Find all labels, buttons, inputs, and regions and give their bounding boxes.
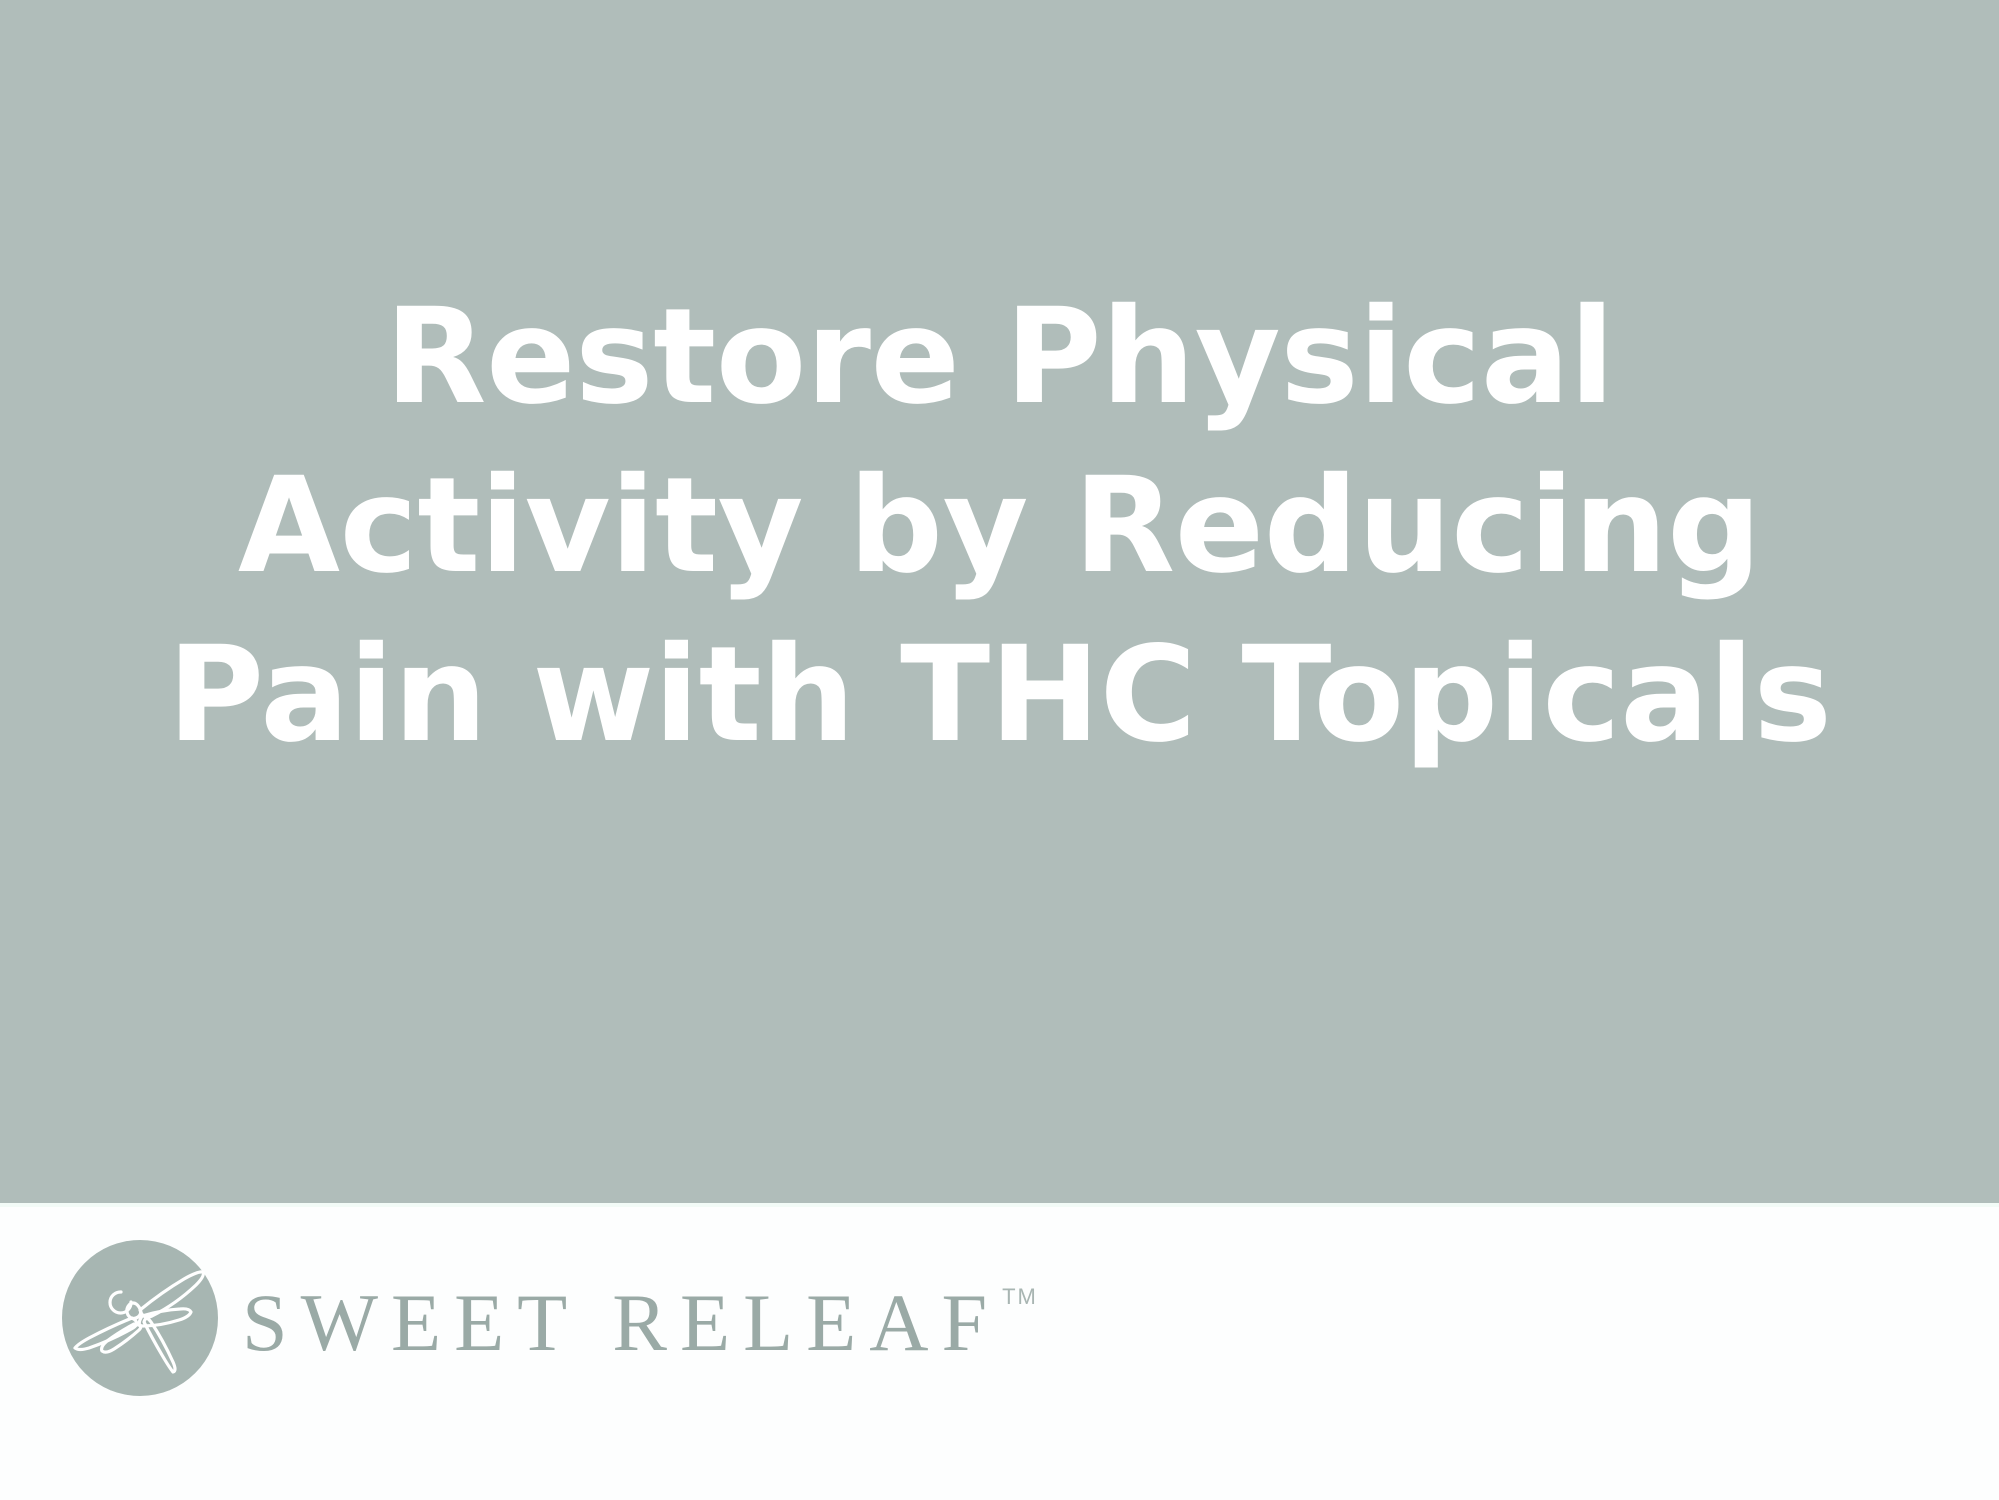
page-title-line-1: Restore Physical: [85, 273, 1915, 442]
hero-banner: Restore Physical Activity by Reducing Pa…: [0, 0, 1999, 1203]
dragonfly-in-circle-icon: [60, 1238, 220, 1398]
brand-logo-lockup[interactable]: SWEET RELEAF TM: [60, 1238, 1038, 1398]
page-title: Restore Physical Activity by Reducing Pa…: [85, 273, 1915, 780]
brand-wordmark: SWEET RELEAF TM: [242, 1268, 1038, 1368]
trademark-symbol: TM: [1002, 1284, 1038, 1310]
page-title-line-3: Pain with THC Topicals: [85, 611, 1915, 780]
slide-page: Restore Physical Activity by Reducing Pa…: [0, 0, 1999, 1500]
page-title-line-2: Activity by Reducing: [85, 442, 1915, 611]
brand-wordmark-text: SWEET RELEAF: [242, 1282, 1000, 1364]
